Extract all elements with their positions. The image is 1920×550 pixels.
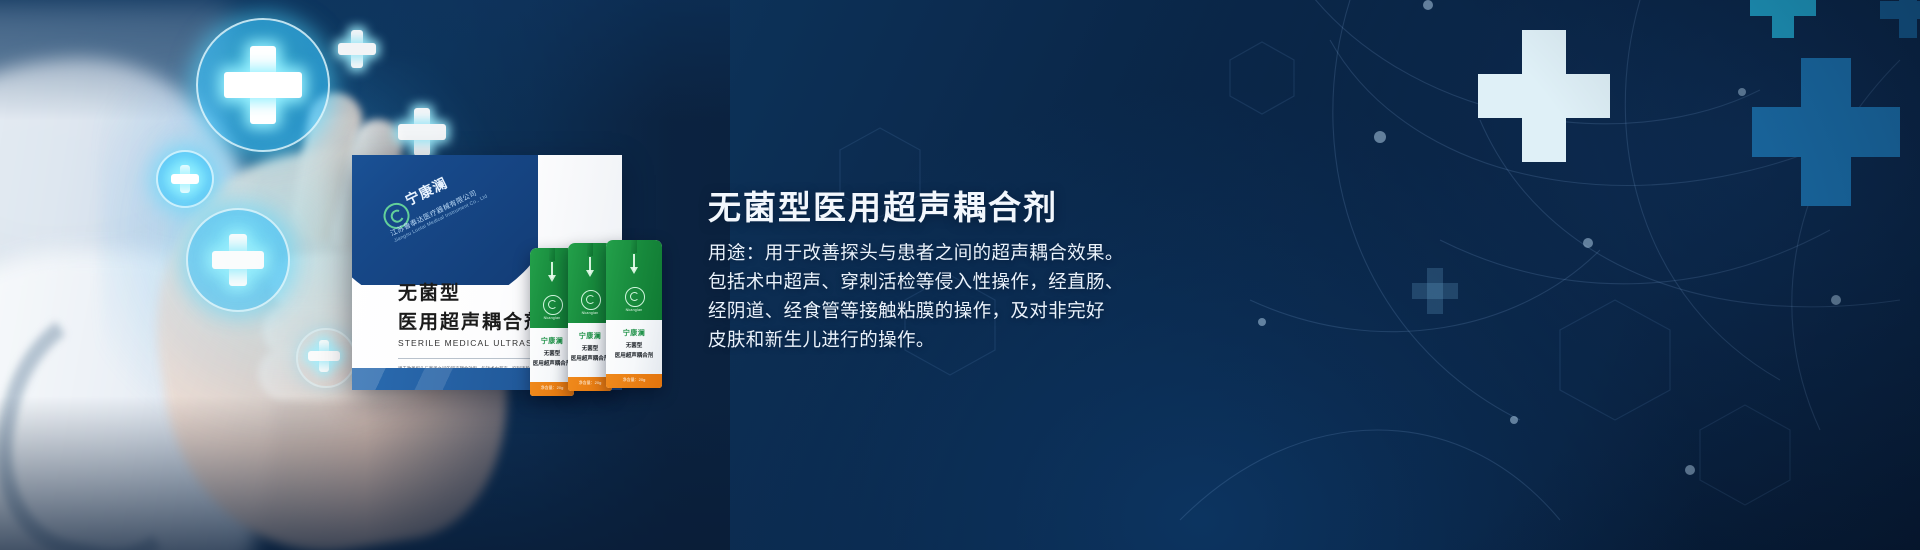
box-brand-corner: 宁康澜 江苏鲁泰达医疗器械有限公司 Jiangsu Luotai Medical… bbox=[352, 155, 538, 285]
box-title-line2: 医用超声耦合剂 bbox=[398, 307, 545, 334]
sachet-line1: 无菌型 bbox=[606, 341, 662, 349]
medical-cross-icon bbox=[212, 234, 264, 286]
glow-circle-large bbox=[196, 18, 330, 152]
spiral-logo-icon bbox=[625, 287, 645, 307]
description-line: 皮肤和新生儿进行的操作。 bbox=[708, 325, 1178, 354]
glow-circle-medium bbox=[186, 208, 290, 312]
sachet-brand-en: Nkanglan bbox=[606, 308, 662, 312]
sachet-brand-cn: 宁康澜 bbox=[606, 328, 662, 338]
box-title-line1: 无菌型 bbox=[398, 278, 461, 305]
spiral-logo-icon bbox=[581, 290, 601, 310]
description-line: 包括术中超声、穿刺活检等侵入性操作，经直肠、 bbox=[708, 267, 1178, 296]
spiral-logo-icon bbox=[543, 295, 563, 315]
glow-circle-small bbox=[156, 150, 214, 208]
description-line: 经阴道、经食管等接触粘膜的操作，及对非完好 bbox=[708, 296, 1178, 325]
sachet-net-weight: 净含量：20g bbox=[606, 377, 662, 383]
description-line: 用途：用于改善探头与患者之间的超声耦合效果。 bbox=[708, 238, 1178, 267]
tear-arrow-icon bbox=[548, 262, 556, 284]
tear-arrow-icon bbox=[586, 257, 594, 279]
sachet-net-band: 净含量：20g bbox=[606, 374, 662, 388]
sachet-item: Nkanglan 宁康澜 无菌型 医用超声耦合剂 净含量：20g bbox=[606, 240, 662, 388]
medical-cross-icon bbox=[398, 108, 446, 156]
brand-logo: 宁康澜 江苏鲁泰达医疗器械有限公司 Jiangsu Luotai Medical… bbox=[366, 155, 538, 266]
glow-circle-tiny bbox=[296, 328, 356, 388]
medical-cross-icon bbox=[171, 165, 199, 193]
tear-arrow-icon bbox=[630, 254, 638, 276]
product-banner: 宁康澜 江苏鲁泰达医疗器械有限公司 Jiangsu Luotai Medical… bbox=[0, 0, 1920, 550]
sachet-line2: 医用超声耦合剂 bbox=[606, 351, 662, 359]
medical-cross-icon bbox=[338, 30, 376, 68]
medical-cross-icon bbox=[224, 46, 302, 124]
banner-description: 用途：用于改善探头与患者之间的超声耦合效果。 包括术中超声、穿刺活检等侵入性操作… bbox=[708, 238, 1178, 354]
banner-title: 无菌型医用超声耦合剂 bbox=[708, 181, 1058, 229]
